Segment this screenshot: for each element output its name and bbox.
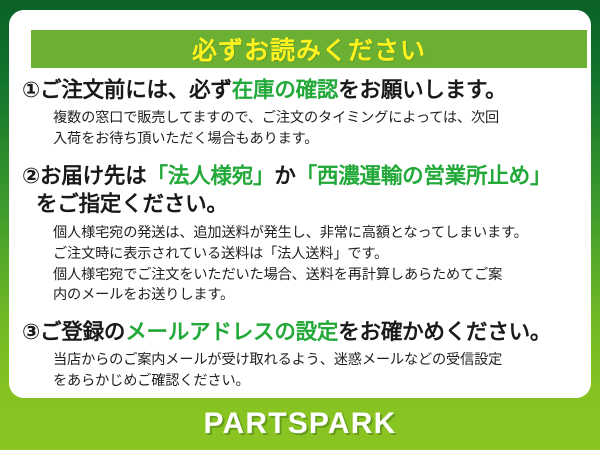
notice-item-3: ③ご登録のメールアドレスの設定をお確かめください。 当店からのご案内メールが受け…	[22, 318, 592, 392]
notice-item-2-body-line-2: ご注文時に表示されている送料は「法人送料」です。	[53, 244, 592, 265]
notice-item-2-body-line-3: 個人様宅宛でご注文をいただいた場合、送料を再計算しあらためてご案	[53, 265, 592, 286]
brand-logo: PARTSPARK	[203, 407, 396, 441]
notice-item-1-heading: ①ご注文前には、必ず在庫の確認をお願いします。	[22, 76, 592, 104]
notice-item-2: ②お届け先は「法人様宛」か「西濃運輸の営業所止め」 をご指定ください。 個人様宅…	[22, 162, 592, 306]
notice-item-2-heading-part-3: か	[274, 164, 295, 188]
notice-item-3-heading-highlight: メールアドレスの設定	[125, 320, 338, 344]
footer-bar: PARTSPARK	[0, 398, 600, 450]
notice-card: 必ずお読みください ①ご注文前には、必ず在庫の確認をお願いします。 複数の窓口で…	[9, 10, 591, 398]
notice-item-1-heading-highlight: 在庫の確認	[232, 78, 339, 102]
notice-item-2-heading-highlight-1: 「法人様宛」	[147, 164, 275, 188]
notice-poster: 必ずお読みください ①ご注文前には、必ず在庫の確認をお願いします。 複数の窓口で…	[0, 0, 600, 450]
notice-item-1-heading-part-3: をお願いします。	[338, 78, 506, 102]
notice-item-2-heading: ②お届け先は「法人様宛」か「西濃運輸の営業所止め」 をご指定ください。	[22, 162, 592, 219]
page-title: 必ずお読みください	[192, 31, 426, 67]
notice-item-1: ①ご注文前には、必ず在庫の確認をお願いします。 複数の窓口で販売してますので、ご…	[22, 76, 592, 150]
notice-item-2-heading-part-1: お届け先は	[40, 164, 147, 188]
title-banner: 必ずお読みください	[31, 30, 587, 68]
notice-item-2-body-line-1: 個人様宅宛の発送は、追加送料が発生し、非常に高額となってしまいます。	[53, 223, 592, 244]
notice-item-2-heading-line-2: をご指定ください。	[22, 190, 592, 218]
notice-item-2-marker: ②	[22, 164, 40, 188]
notice-item-3-heading-part-3: をお確かめください。	[338, 320, 551, 344]
notice-item-1-body-line-1: 複数の窓口で販売してますので、ご注文のタイミングによっては、次回	[53, 108, 592, 129]
notice-item-2-heading-highlight-2: 「西濃運輸の営業所止め」	[296, 164, 552, 188]
notice-item-3-body: 当店からのご案内メールが受け取れるよう、迷惑メールなどの受信設定 をあらかじめご…	[22, 350, 592, 391]
notice-list: ①ご注文前には、必ず在庫の確認をお願いします。 複数の窓口で販売してますので、ご…	[22, 76, 592, 393]
notice-item-2-body: 個人様宅宛の発送は、追加送料が発生し、非常に高額となってしまいます。 ご注文時に…	[22, 223, 592, 305]
notice-item-3-body-line-1: 当店からのご案内メールが受け取れるよう、迷惑メールなどの受信設定	[53, 350, 592, 371]
notice-item-1-heading-part-1: ご注文前には、必ず	[40, 78, 232, 102]
notice-item-1-marker: ①	[22, 78, 40, 102]
notice-item-3-marker: ③	[22, 320, 40, 344]
notice-item-1-body: 複数の窓口で販売してますので、ご注文のタイミングによっては、次回 入荷をお待ち頂…	[22, 108, 592, 149]
notice-item-1-body-line-2: 入荷をお待ち頂いただく場合もあります。	[53, 129, 592, 150]
notice-item-3-body-line-2: をあらかじめご確認ください。	[53, 371, 592, 392]
notice-item-3-heading-part-1: ご登録の	[40, 320, 125, 344]
notice-item-3-heading: ③ご登録のメールアドレスの設定をお確かめください。	[22, 318, 592, 346]
notice-item-2-body-line-4: 内のメールをお送りします。	[53, 285, 592, 306]
